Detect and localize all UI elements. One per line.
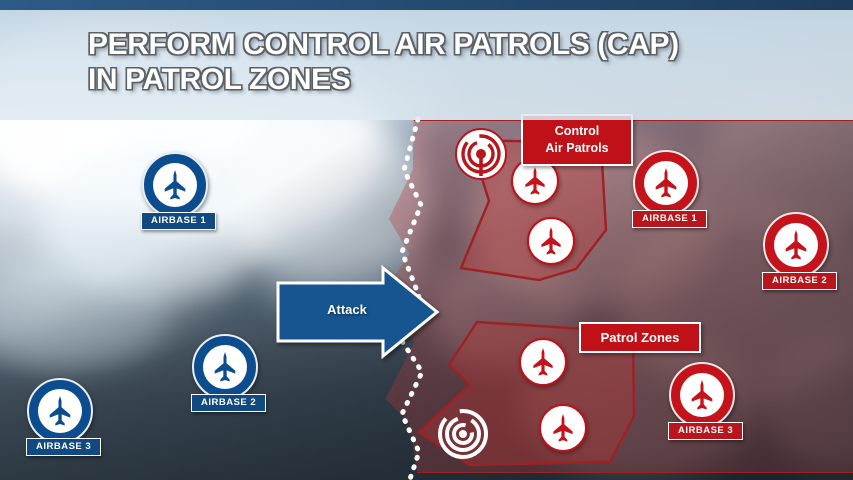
cap-aircraft-3[interactable] <box>519 338 567 386</box>
fighter-jet-icon <box>549 413 577 443</box>
airbase-disc <box>633 150 699 216</box>
airbase-disc <box>142 152 208 218</box>
fighter-jet-icon <box>210 351 240 383</box>
airbase-inner-circle <box>38 389 82 433</box>
fighter-jet-icon <box>537 226 565 256</box>
radar-site-south[interactable] <box>437 408 489 460</box>
airbase-label: AIRBASE 3 <box>668 422 743 440</box>
airbase-label: AIRBASE 1 <box>141 212 216 230</box>
callout-patrol-zones[interactable]: Patrol Zones <box>579 322 701 353</box>
radar-site-north[interactable] <box>455 128 507 180</box>
blue-airbase-1[interactable]: AIRBASE 1 <box>141 152 209 230</box>
airbase-disc <box>192 334 258 400</box>
attack-arrow-label-wrap: Attack <box>276 281 436 344</box>
fighter-jet-icon <box>781 229 811 261</box>
callout-line-2: Air Patrols <box>527 140 627 157</box>
aircraft-disc <box>527 217 575 265</box>
fighter-jet-icon <box>160 169 190 201</box>
airbase-label: AIRBASE 3 <box>26 438 101 456</box>
top-accent-bar <box>0 0 853 10</box>
page-title-line-2: IN PATROL ZONES <box>88 63 788 98</box>
fighter-jet-icon <box>687 379 717 411</box>
fighter-jet-icon <box>45 395 75 427</box>
blue-airbase-2[interactable]: AIRBASE 2 <box>191 334 259 412</box>
airbase-inner-circle <box>203 345 247 389</box>
aircraft-disc <box>519 338 567 386</box>
cap-aircraft-2[interactable] <box>527 217 575 265</box>
red-airbase-2[interactable]: AIRBASE 2 <box>762 212 830 290</box>
page-title-line-1: PERFORM CONTROL AIR PATROLS (CAP) <box>88 28 788 63</box>
airbase-label: AIRBASE 2 <box>762 272 837 290</box>
airbase-label: AIRBASE 2 <box>191 394 266 412</box>
airbase-inner-circle <box>680 373 724 417</box>
slide-canvas: Attack <box>0 0 853 480</box>
airbase-disc <box>763 212 829 278</box>
callout-control-air-patrols[interactable]: Control Air Patrols <box>521 114 633 166</box>
cap-aircraft-4[interactable] <box>539 404 587 452</box>
fighter-jet-icon <box>529 347 557 377</box>
airbase-label: AIRBASE 1 <box>632 210 707 228</box>
blue-airbase-3[interactable]: AIRBASE 3 <box>26 378 94 456</box>
fighter-jet-icon <box>651 167 681 199</box>
fighter-jet-icon <box>521 166 549 196</box>
airbase-inner-circle <box>153 163 197 207</box>
page-title: PERFORM CONTROL AIR PATROLS (CAP) IN PAT… <box>88 28 788 98</box>
radar-icon <box>437 408 489 460</box>
red-airbase-1[interactable]: AIRBASE 1 <box>632 150 700 228</box>
airbase-inner-circle <box>644 161 688 205</box>
airbase-disc <box>669 362 735 428</box>
attack-arrow-label: Attack <box>304 302 390 317</box>
airbase-disc <box>27 378 93 444</box>
airbase-inner-circle <box>774 223 818 267</box>
red-airbase-3[interactable]: AIRBASE 3 <box>668 362 736 440</box>
callout-line-1: Control <box>527 123 627 140</box>
aircraft-disc <box>539 404 587 452</box>
radar-icon <box>455 128 507 180</box>
